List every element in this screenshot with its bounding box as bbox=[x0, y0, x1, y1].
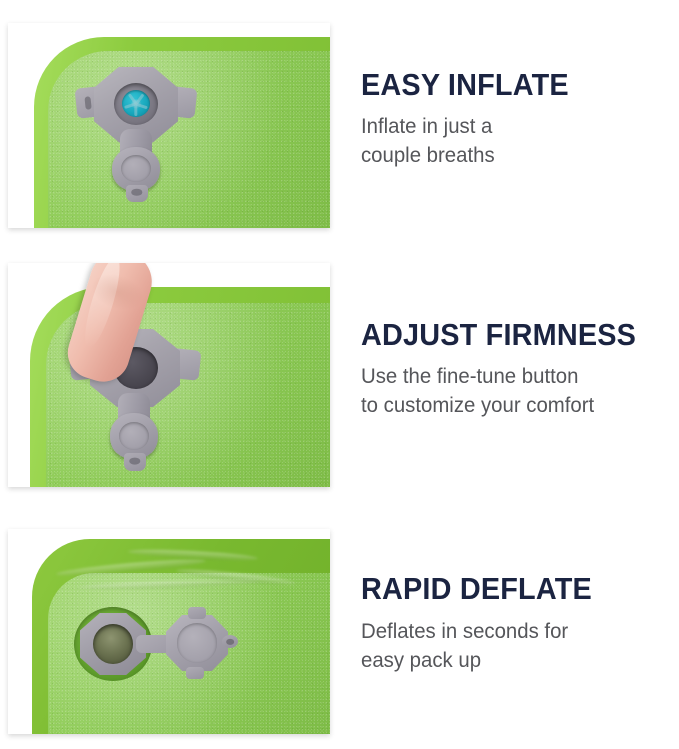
feature-text-adjust-firmness: ADJUST FIRMNESS Use the fine-tune button… bbox=[330, 319, 679, 421]
feature-text-easy-inflate: EASY INFLATE Inflate in just a couple br… bbox=[330, 69, 679, 171]
valve-assembly[interactable] bbox=[76, 63, 196, 203]
valve-secondary-cap[interactable] bbox=[112, 147, 160, 191]
desc-line: couple breaths bbox=[361, 142, 664, 171]
feature-image-rapid-deflate bbox=[8, 529, 330, 734]
valve-well bbox=[114, 83, 158, 125]
impeller-disc bbox=[122, 90, 150, 117]
feature-text-rapid-deflate: RAPID DEFLATE Deflates in seconds for ea… bbox=[330, 573, 679, 675]
valve-cap-flipped[interactable] bbox=[166, 615, 228, 671]
feature-callout-page: EASY INFLATE Inflate in just a couple br… bbox=[0, 0, 679, 749]
valve-pull-tab[interactable] bbox=[126, 185, 148, 202]
feature-title: EASY INFLATE bbox=[361, 69, 651, 102]
feature-row-easy-inflate: EASY INFLATE Inflate in just a couple br… bbox=[0, 0, 679, 240]
feature-title: ADJUST FIRMNESS bbox=[361, 319, 651, 352]
feature-description: Inflate in just a couple breaths bbox=[361, 113, 664, 171]
desc-line: easy pack up bbox=[361, 647, 664, 676]
valve-pull-tab[interactable] bbox=[124, 453, 146, 471]
desc-line: Inflate in just a bbox=[361, 113, 664, 142]
feature-row-rapid-deflate: RAPID DEFLATE Deflates in seconds for ea… bbox=[0, 500, 679, 749]
feature-image-easy-inflate bbox=[8, 23, 330, 228]
valve-cap-eyelet bbox=[222, 635, 238, 648]
desc-line: Deflates in seconds for bbox=[361, 618, 664, 647]
valve-port-hole bbox=[93, 624, 134, 665]
valve-cap-nub-top bbox=[188, 607, 206, 619]
feature-image-adjust-firmness bbox=[8, 263, 330, 487]
feature-title: RAPID DEFLATE bbox=[361, 573, 651, 606]
wing-slot-icon bbox=[84, 96, 91, 110]
feature-description: Deflates in seconds for easy pack up bbox=[361, 618, 664, 676]
desc-line: Use the fine-tune button bbox=[361, 363, 664, 392]
valve-cap-nub-bottom bbox=[186, 667, 204, 679]
feature-row-adjust-firmness: ADJUST FIRMNESS Use the fine-tune button… bbox=[0, 245, 679, 495]
desc-line: to customize your comfort bbox=[361, 392, 664, 421]
feature-description: Use the fine-tune button to customize yo… bbox=[361, 363, 664, 421]
